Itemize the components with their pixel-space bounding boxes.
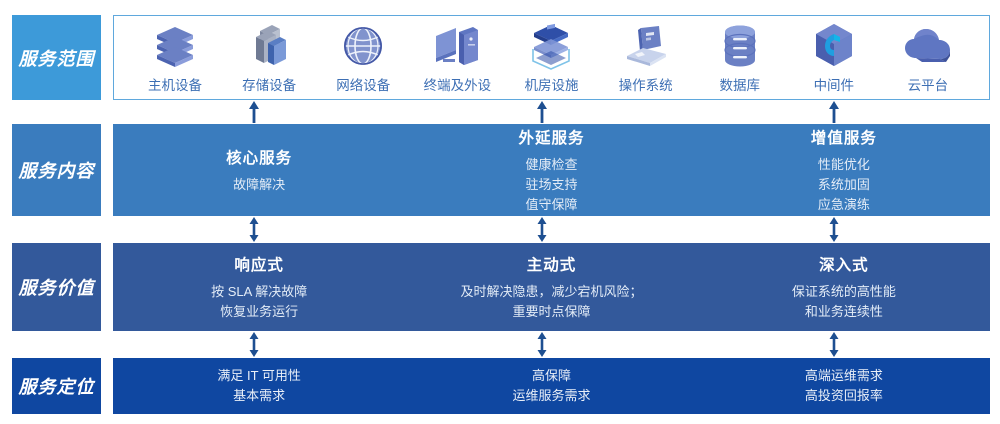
value-column-lines: 按 SLA 解决故障 恢复业务运行 bbox=[211, 282, 307, 322]
value-column-title: 响应式 bbox=[234, 253, 284, 275]
arrow-updown-icon bbox=[245, 332, 263, 357]
datacenter-facility-icon bbox=[526, 22, 576, 70]
scope-item-label: 数据库 bbox=[719, 74, 760, 94]
positioning-column-basic[interactable]: 满足 IT 可用性 基本需求 bbox=[113, 366, 405, 406]
value-column-lines: 及时解决隐患，减少宕机风险； 重要时点保障 bbox=[460, 282, 642, 322]
value-line: 重要时点保障 bbox=[460, 302, 642, 322]
content-column-value-added-service[interactable]: 增值服务 性能优化 系统加固 应急演练 bbox=[698, 126, 990, 215]
scope-item-storage-equipment[interactable]: 存储设备 bbox=[222, 22, 316, 94]
database-icon bbox=[720, 22, 760, 70]
scope-item-label: 网络设备 bbox=[336, 74, 390, 94]
positioning-line: 基本需求 bbox=[217, 386, 301, 406]
storage-array-icon bbox=[246, 22, 292, 70]
cloud-platform-icon bbox=[902, 22, 954, 70]
arrow-updown-icon bbox=[245, 217, 263, 242]
content-column-lines: 故障解决 bbox=[233, 175, 285, 195]
service-scope-panel: 主机设备 存储 bbox=[113, 15, 990, 100]
content-line: 值守保障 bbox=[525, 195, 577, 215]
value-column-title: 深入式 bbox=[819, 253, 869, 275]
scope-item-label: 云平台 bbox=[908, 74, 949, 94]
row-label-text: 服务内容 bbox=[19, 157, 95, 183]
scope-item-label: 中间件 bbox=[814, 74, 855, 94]
scope-item-terminal-peripherals[interactable]: 终端及外设 bbox=[410, 22, 504, 94]
arrow-updown-icon bbox=[825, 217, 843, 242]
row-label-service-scope: 服务范围 bbox=[12, 15, 101, 100]
scope-item-host-equipment[interactable]: 主机设备 bbox=[128, 22, 222, 94]
row-label-text: 服务价值 bbox=[19, 274, 95, 300]
content-column-extended-service[interactable]: 外延服务 健康检查 驻场支持 值守保障 bbox=[405, 126, 697, 215]
service-value-panel: 响应式 按 SLA 解决故障 恢复业务运行 主动式 及时解决隐患，减少宕机风险；… bbox=[113, 243, 990, 331]
content-line: 性能优化 bbox=[818, 155, 870, 175]
positioning-line: 运维服务需求 bbox=[512, 386, 590, 406]
content-line: 驻场支持 bbox=[525, 175, 577, 195]
scope-item-label: 主机设备 bbox=[148, 74, 202, 94]
scope-item-label: 机房设施 bbox=[524, 74, 578, 94]
row-label-text: 服务定位 bbox=[19, 373, 95, 399]
value-column-indepth[interactable]: 深入式 保证系统的高性能 和业务连续性 bbox=[698, 253, 990, 322]
value-line: 和业务连续性 bbox=[792, 302, 896, 322]
row-label-text: 服务范围 bbox=[19, 45, 95, 71]
value-column-title: 主动式 bbox=[527, 253, 577, 275]
value-column-proactive[interactable]: 主动式 及时解决隐患，减少宕机风险； 重要时点保障 bbox=[405, 253, 697, 322]
desktop-terminal-icon bbox=[433, 22, 481, 70]
arrow-up-icon bbox=[533, 101, 551, 123]
positioning-column-lines: 高端运维需求 高投资回报率 bbox=[805, 366, 883, 406]
content-column-title: 增值服务 bbox=[811, 126, 877, 148]
content-column-lines: 性能优化 系统加固 应急演练 bbox=[818, 155, 870, 215]
service-content-panel: 核心服务 故障解决 外延服务 健康检查 驻场支持 值守保障 增值服务 性能优化 … bbox=[113, 124, 990, 216]
content-column-title: 外延服务 bbox=[518, 126, 584, 148]
positioning-line: 高投资回报率 bbox=[805, 386, 883, 406]
arrow-updown-icon bbox=[825, 332, 843, 357]
positioning-line: 满足 IT 可用性 bbox=[217, 366, 301, 386]
operating-system-icon bbox=[621, 22, 671, 70]
arrow-updown-icon bbox=[533, 332, 551, 357]
positioning-column-assurance[interactable]: 高保障 运维服务需求 bbox=[405, 366, 697, 406]
positioning-line: 高保障 bbox=[512, 366, 590, 386]
content-line: 应急演练 bbox=[818, 195, 870, 215]
arrow-up-icon bbox=[825, 101, 843, 123]
value-line: 按 SLA 解决故障 bbox=[211, 282, 307, 302]
content-column-core-service[interactable]: 核心服务 故障解决 bbox=[113, 146, 405, 195]
scope-item-label: 操作系统 bbox=[619, 74, 673, 94]
content-line: 故障解决 bbox=[233, 175, 285, 195]
row-label-service-positioning: 服务定位 bbox=[12, 358, 101, 414]
scope-item-cloud-platform[interactable]: 云平台 bbox=[881, 22, 975, 94]
scope-item-database[interactable]: 数据库 bbox=[693, 22, 787, 94]
content-column-title: 核心服务 bbox=[226, 146, 292, 168]
value-column-responsive[interactable]: 响应式 按 SLA 解决故障 恢复业务运行 bbox=[113, 253, 405, 322]
positioning-column-lines: 满足 IT 可用性 基本需求 bbox=[217, 366, 301, 406]
value-line: 恢复业务运行 bbox=[211, 302, 307, 322]
scope-item-label: 终端及外设 bbox=[424, 74, 492, 94]
positioning-column-lines: 高保障 运维服务需求 bbox=[512, 366, 590, 406]
content-column-lines: 健康检查 驻场支持 值守保障 bbox=[525, 155, 577, 215]
service-positioning-panel: 满足 IT 可用性 基本需求 高保障 运维服务需求 高端运维需求 高投资回报率 bbox=[113, 358, 990, 414]
scope-item-datacenter-facility[interactable]: 机房设施 bbox=[504, 22, 598, 94]
scope-item-middleware[interactable]: 中间件 bbox=[787, 22, 881, 94]
value-line: 及时解决隐患，减少宕机风险； bbox=[460, 282, 642, 302]
service-framework-diagram: 服务范围 bbox=[0, 0, 1000, 424]
middleware-cube-icon bbox=[811, 22, 857, 70]
content-line: 健康检查 bbox=[525, 155, 577, 175]
scope-item-network-equipment[interactable]: 网络设备 bbox=[316, 22, 410, 94]
arrow-updown-icon bbox=[533, 217, 551, 242]
arrow-up-icon bbox=[245, 101, 263, 123]
globe-network-icon bbox=[342, 22, 384, 70]
row-label-service-content: 服务内容 bbox=[12, 124, 101, 216]
positioning-column-highend[interactable]: 高端运维需求 高投资回报率 bbox=[698, 366, 990, 406]
positioning-line: 高端运维需求 bbox=[805, 366, 883, 386]
scope-item-operating-system[interactable]: 操作系统 bbox=[599, 22, 693, 94]
value-line: 保证系统的高性能 bbox=[792, 282, 896, 302]
server-stack-icon bbox=[152, 22, 198, 70]
row-label-service-value: 服务价值 bbox=[12, 243, 101, 331]
scope-item-label: 存储设备 bbox=[242, 74, 296, 94]
content-line: 系统加固 bbox=[818, 175, 870, 195]
value-column-lines: 保证系统的高性能 和业务连续性 bbox=[792, 282, 896, 322]
